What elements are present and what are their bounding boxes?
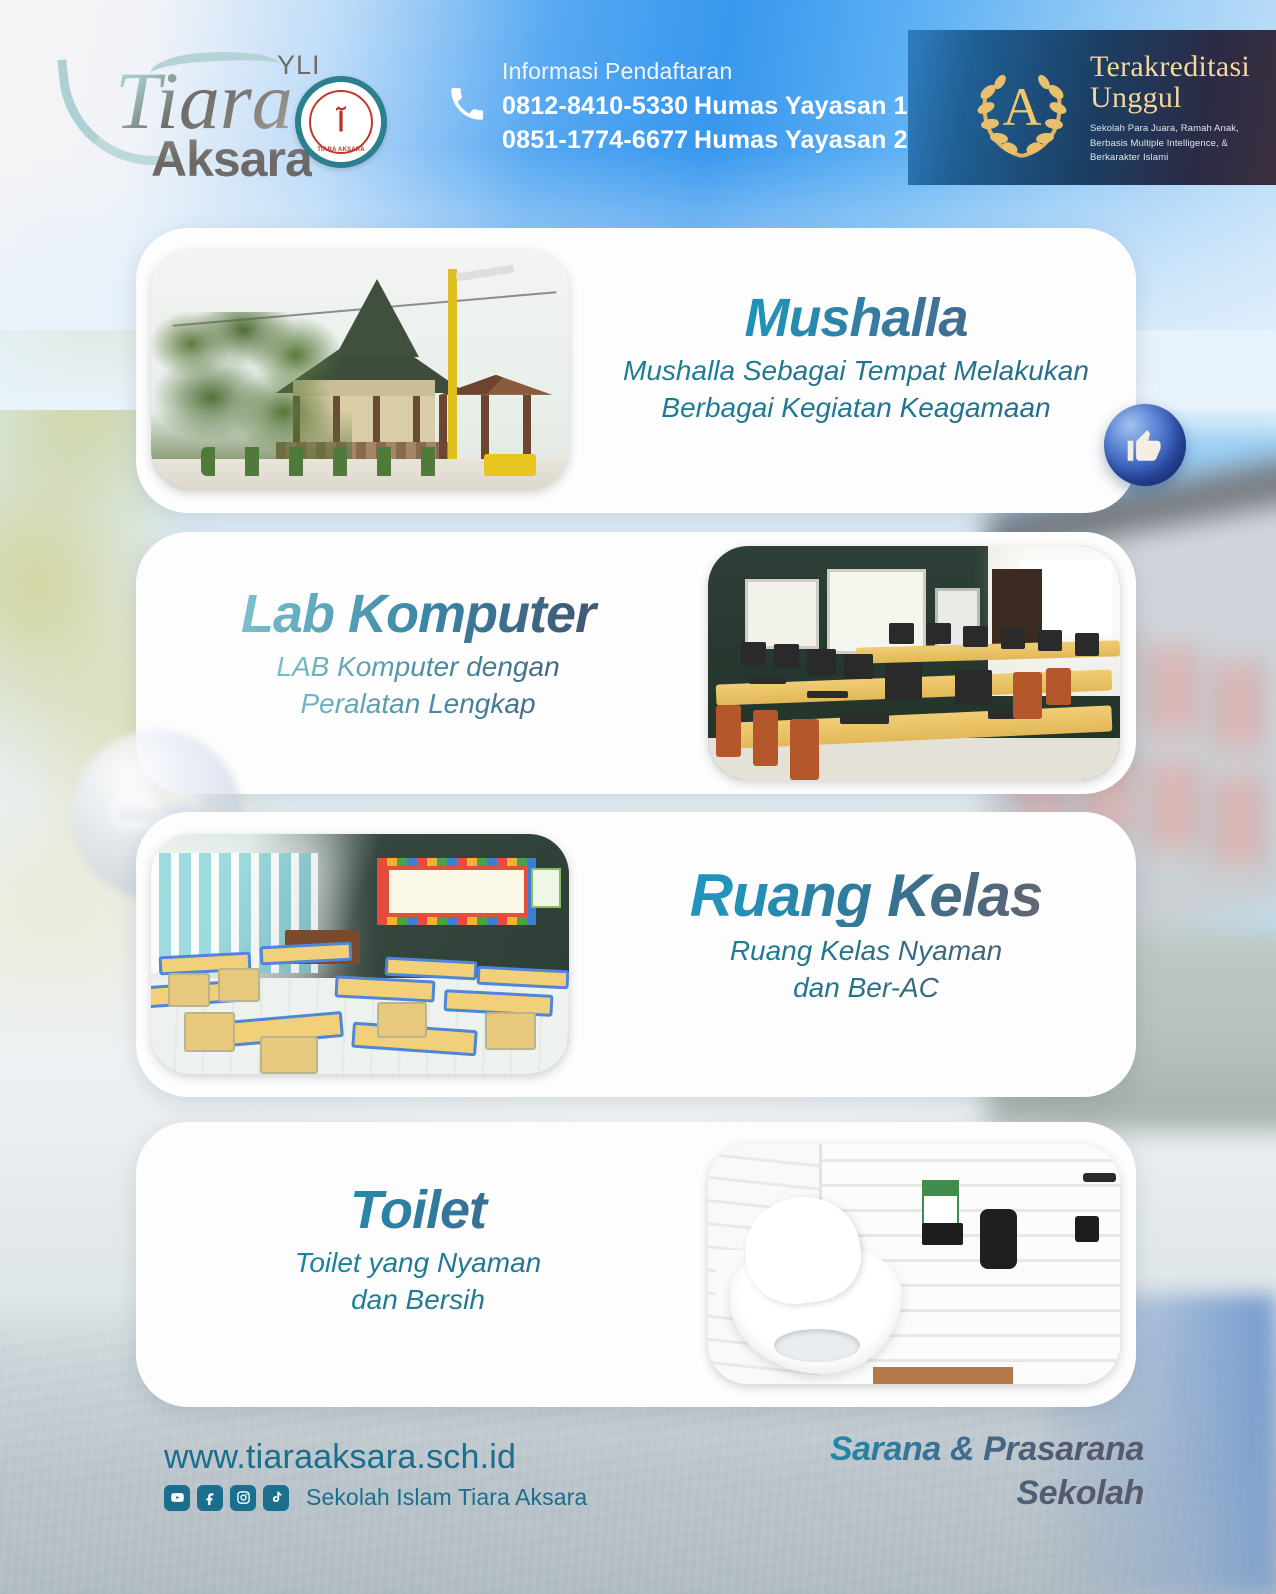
tagline-line2: Sekolah	[684, 1472, 1144, 1516]
laurel-wreath-icon: A	[966, 52, 1078, 162]
lab-komputer-text: Lab Komputer LAB Komputer dengan Peralat…	[158, 586, 678, 723]
ruang-kelas-subtitle-line1: Ruang Kelas Nyaman	[586, 933, 1136, 970]
toilet-subtitle-line1: Toilet yang Nyaman	[158, 1245, 678, 1282]
accreditation-title: Terakreditasi Unggul	[1090, 52, 1250, 113]
tiktok-icon[interactable]	[263, 1485, 289, 1511]
card-lab-komputer[interactable]: Lab Komputer LAB Komputer dengan Peralat…	[136, 532, 1136, 794]
phone-number-1[interactable]: 0812-8410-5330	[502, 92, 694, 121]
card-ruang-kelas[interactable]: Ruang Kelas Ruang Kelas Nyaman dan Ber-A…	[136, 812, 1136, 1097]
footer-left: www.tiaraaksara.sch.id Sekolah Islam Tia…	[164, 1438, 684, 1511]
poster-root: YLI Tiara Aksara آ TIARA AKSARA Informas…	[0, 0, 1276, 1594]
accreditation-grade: A	[966, 52, 1078, 162]
header: YLI Tiara Aksara آ TIARA AKSARA Informas…	[0, 0, 1276, 190]
toilet-title: Toilet	[158, 1182, 678, 1239]
contact-line-1[interactable]: 0812-8410-5330Humas Yayasan 1	[502, 92, 908, 121]
phone-icon	[446, 78, 488, 130]
footer-tagline: Sarana & Prasarana Sekolah	[684, 1428, 1144, 1515]
mushalla-text: Mushalla Mushalla Sebagai Tempat Melakuk…	[586, 290, 1126, 427]
social-row: Sekolah Islam Tiara Aksara	[164, 1484, 684, 1511]
contact-heading: Informasi Pendaftaran	[502, 58, 733, 85]
brand-logo[interactable]: YLI Tiara Aksara آ TIARA AKSARA	[55, 24, 395, 174]
mushalla-title: Mushalla	[586, 290, 1126, 347]
school-seal-icon: آ TIARA AKSARA	[295, 76, 387, 168]
mushalla-subtitle-line1: Mushalla Sebagai Tempat Melakukan	[586, 353, 1126, 390]
toilet-subtitle-line2: dan Bersih	[158, 1282, 678, 1319]
facebook-icon[interactable]	[197, 1485, 223, 1511]
ruang-kelas-text: Ruang Kelas Ruang Kelas Nyaman dan Ber-A…	[586, 864, 1136, 1007]
phone-number-2[interactable]: 0851-1774-6677	[502, 126, 694, 155]
phone-label-2: Humas Yayasan 2	[694, 126, 908, 155]
accreditation-badge: A Terakreditasi Unggul Sekolah Para Juar…	[908, 30, 1276, 185]
social-handle: Sekolah Islam Tiara Aksara	[306, 1484, 587, 1511]
computer-lab-photo	[708, 546, 1120, 780]
website-link[interactable]: www.tiaraaksara.sch.id	[164, 1438, 684, 1477]
mushalla-photo	[151, 250, 569, 490]
card-toilet[interactable]: Toilet Toilet yang Nyaman dan Bersih	[136, 1122, 1136, 1407]
ruang-kelas-subtitle-line2: dan Ber-AC	[586, 970, 1136, 1007]
lab-komputer-title: Lab Komputer	[158, 586, 678, 643]
phone-label-1: Humas Yayasan 1	[694, 92, 908, 121]
lab-komputer-subtitle-line2: Peralatan Lengkap	[158, 686, 678, 723]
classroom-photo	[151, 834, 569, 1074]
card-mushalla[interactable]: Mushalla Mushalla Sebagai Tempat Melakuk…	[136, 228, 1136, 513]
toilet-photo	[708, 1144, 1120, 1384]
mushalla-subtitle-line2: Berbagai Kegiatan Keagamaan	[586, 390, 1126, 427]
accreditation-title-line1: Terakreditasi	[1090, 52, 1250, 83]
logo-aksara-text: Aksara	[151, 130, 312, 188]
seal-caption: TIARA AKSARA	[307, 147, 375, 153]
ruang-kelas-title: Ruang Kelas	[586, 864, 1136, 927]
seal-arabic-mark: آ	[337, 108, 344, 138]
thumbs-up-sphere-icon	[1104, 404, 1186, 486]
youtube-icon[interactable]	[164, 1485, 190, 1511]
instagram-icon[interactable]	[230, 1485, 256, 1511]
contact-block: Informasi Pendaftaran 0812-8410-5330Huma…	[446, 56, 876, 156]
toilet-text: Toilet Toilet yang Nyaman dan Bersih	[158, 1182, 678, 1319]
tagline-line1: Sarana & Prasarana	[684, 1428, 1144, 1472]
accreditation-subtitle: Sekolah Para Juara, Ramah Anak, Berbasis…	[1090, 122, 1265, 166]
lab-komputer-subtitle-line1: LAB Komputer dengan	[158, 649, 678, 686]
logo-tiara-text: Tiara	[115, 62, 293, 140]
accreditation-title-line2: Unggul	[1090, 83, 1250, 114]
contact-line-2[interactable]: 0851-1774-6677Humas Yayasan 2	[502, 126, 908, 155]
